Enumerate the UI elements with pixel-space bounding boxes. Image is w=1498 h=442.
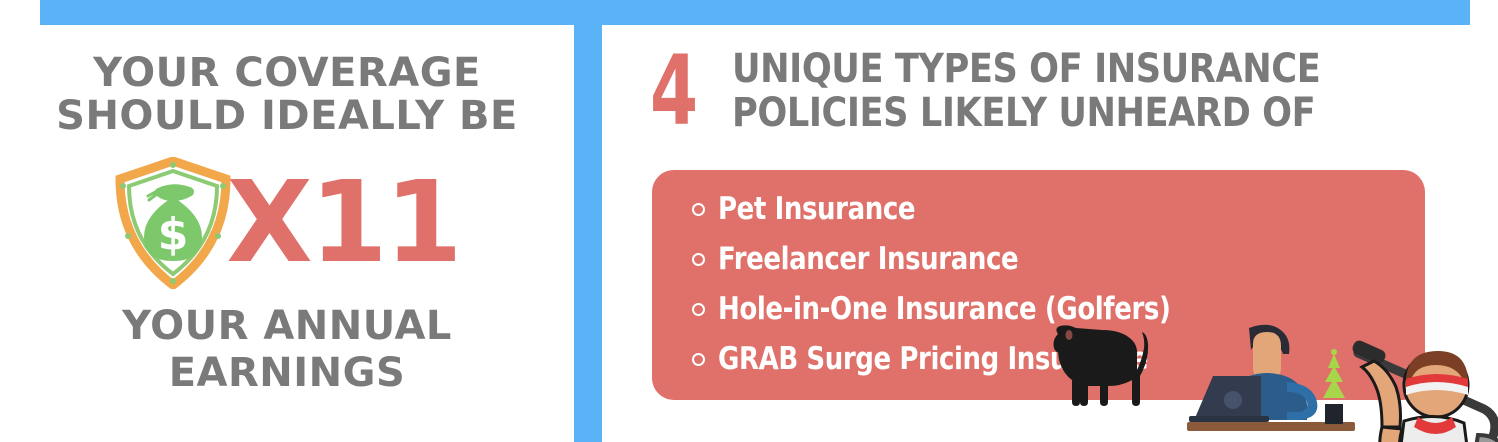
freelancer-laptop-icon	[1187, 320, 1372, 442]
list-item-label: Pet Insurance	[718, 192, 915, 226]
left-heading: YOUR COVERAGE SHOULD IDEALLY BE	[0, 52, 574, 138]
right-heading-line2: POLICIES LIKELY UNHEARD OF	[732, 91, 1390, 135]
right-heading-line1: UNIQUE TYPES OF INSURANCE	[732, 46, 1320, 92]
list-item[interactable]: Pet Insurance	[692, 184, 1392, 234]
left-footer-line1: YOUR ANNUAL	[122, 303, 452, 349]
left-footer: YOUR ANNUAL EARNINGS	[0, 303, 574, 397]
bullet-circle-icon	[692, 353, 705, 366]
insurance-types-card: Pet Insurance Freelancer Insurance Hole-…	[652, 170, 1425, 400]
left-footer-line2: EARNINGS	[0, 350, 574, 397]
dog-silhouette-icon	[1044, 318, 1154, 410]
left-heading-line2: SHOULD IDEALLY BE	[0, 95, 574, 138]
right-heading: 4 UNIQUE TYPES OF INSURANCE POLICIES LIK…	[650, 47, 1480, 135]
bullet-circle-icon	[692, 203, 705, 216]
shield-money-bag-icon: $	[114, 157, 232, 289]
left-panel: YOUR COVERAGE SHOULD IDEALLY BE	[0, 25, 574, 442]
list-item[interactable]: Freelancer Insurance	[692, 234, 1392, 284]
right-panel: 4 UNIQUE TYPES OF INSURANCE POLICIES LIK…	[602, 25, 1498, 442]
bullet-circle-icon	[692, 303, 705, 316]
left-multiplier-row: $ X11	[0, 153, 574, 293]
count-number: 4	[650, 48, 702, 134]
bullet-circle-icon	[692, 253, 705, 266]
vertical-divider	[574, 0, 602, 442]
right-heading-lines: UNIQUE TYPES OF INSURANCE POLICIES LIKEL…	[732, 47, 1390, 135]
infographic-canvas: YOUR COVERAGE SHOULD IDEALLY BE	[0, 0, 1498, 442]
golfer-icon	[1352, 335, 1498, 442]
left-heading-line1: YOUR COVERAGE	[93, 50, 481, 96]
list-item-label: Freelancer Insurance	[718, 242, 1018, 276]
multiplier-value: X11	[226, 167, 459, 279]
dollar-sign-glyph: $	[158, 209, 189, 260]
top-accent-bar	[40, 0, 1470, 25]
